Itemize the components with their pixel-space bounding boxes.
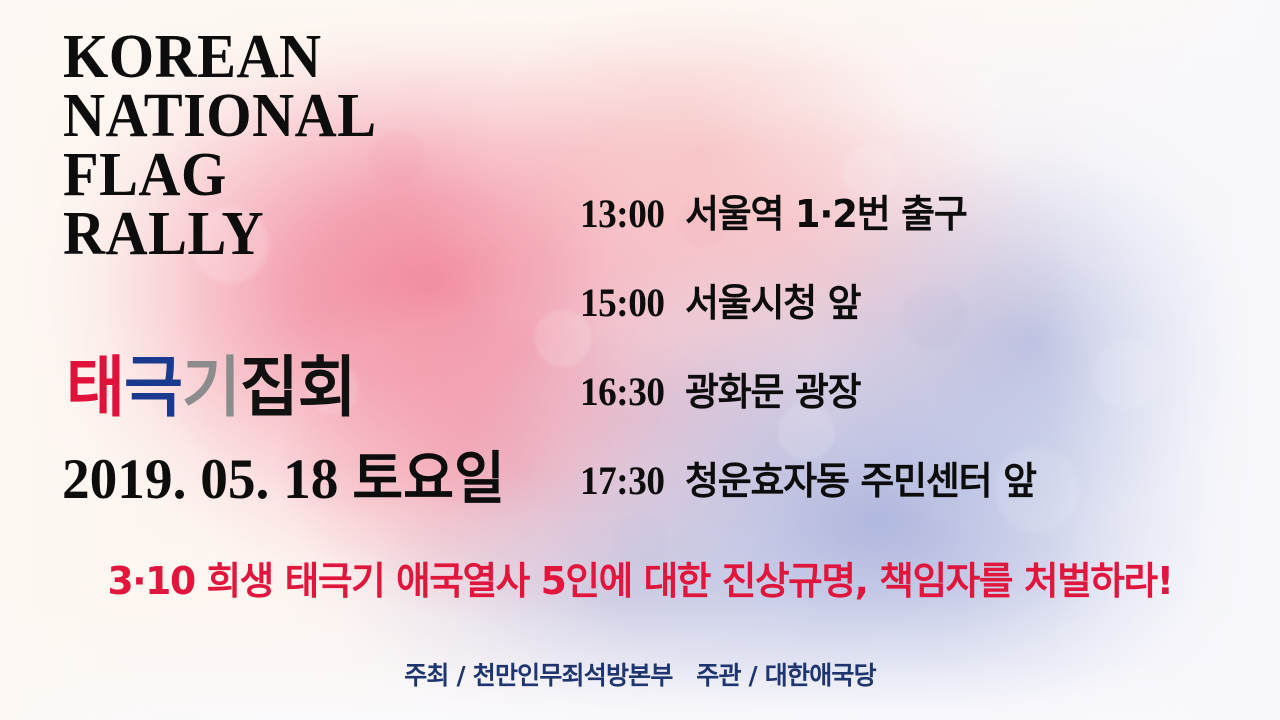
schedule-time: 16:30 (580, 370, 664, 414)
english-headline: KOREAN NATIONAL FLAG RALLY (63, 28, 397, 264)
headline-line-2: NATIONAL (63, 87, 377, 146)
organizer-credits: 주최 / 천만인무죄석방본부 주관 / 대한애국당 (0, 659, 1280, 693)
poster-content: KOREAN NATIONAL FLAG RALLY 태극기집회 2019. 0… (0, 0, 1280, 720)
korean-title-word-jiphoe: 집회 (240, 349, 356, 426)
schedule-row: 17:30 청운효자동 주민센터 앞 (580, 459, 1220, 548)
schedule-place: 서울시청 앞 (685, 281, 860, 325)
korean-title-taegeukgi-jiphoe: 태극기집회 (66, 353, 356, 423)
schedule-row: 13:00 서울역 1·2번 출구 (580, 192, 1220, 281)
schedule-time: 13:00 (580, 192, 664, 236)
korean-title-char-geuk: 극 (124, 349, 182, 426)
rally-poster: KOREAN NATIONAL FLAG RALLY 태극기집회 2019. 0… (0, 0, 1280, 720)
schedule-list: 13:00 서울역 1·2번 출구 15:00 서울시청 앞 16:30 광화문… (580, 192, 1220, 548)
schedule-time: 17:30 (580, 459, 664, 503)
demand-slogan: 3·10 희생 태극기 애국열사 5인에 대한 진상규명, 책임자를 처벌하라! (6, 557, 1273, 605)
event-date: 2019. 05. 18 토요일 (62, 447, 505, 513)
headline-line-4: RALLY (63, 205, 377, 264)
schedule-place: 청운효자동 주민센터 앞 (685, 459, 1036, 503)
schedule-place: 서울역 1·2번 출구 (685, 192, 967, 236)
headline-line-1: KOREAN (63, 28, 377, 87)
headline-line-3: FLAG (63, 146, 377, 205)
schedule-place: 광화문 광장 (685, 370, 860, 414)
schedule-row: 16:30 광화문 광장 (580, 370, 1220, 459)
schedule-time: 15:00 (580, 281, 664, 325)
schedule-row: 15:00 서울시청 앞 (580, 281, 1220, 370)
korean-title-char-gi: 기 (182, 349, 240, 426)
korean-title-char-tae: 태 (66, 349, 124, 426)
